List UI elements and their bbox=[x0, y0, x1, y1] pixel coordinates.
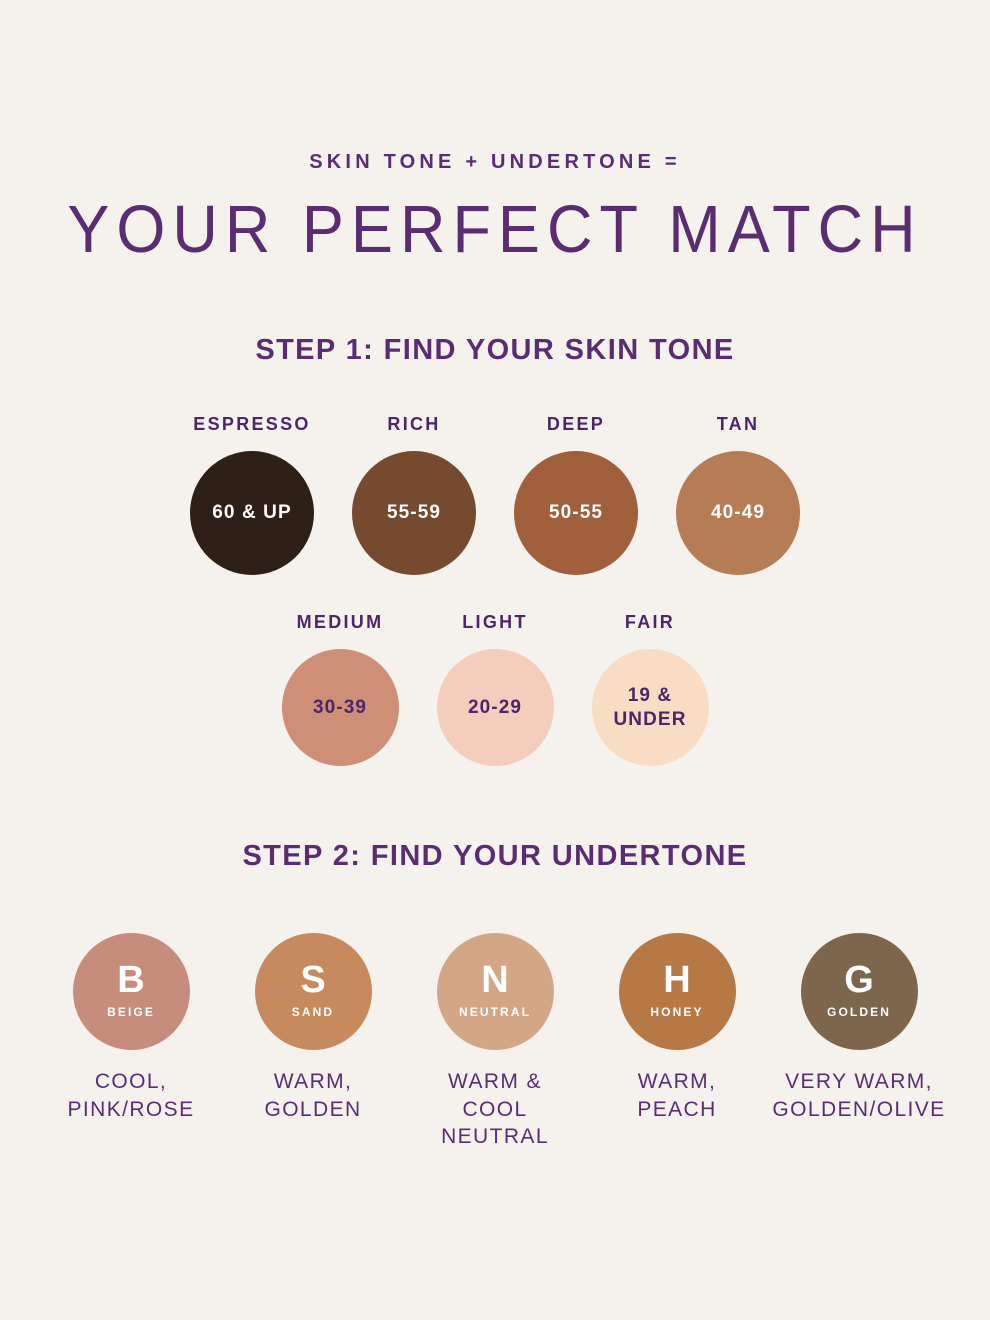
step-2-heading: STEP 2: FIND YOUR UNDERTONE bbox=[0, 842, 990, 871]
undertone-swatch[interactable]: SSAND bbox=[255, 933, 372, 1050]
skin-tone-medium[interactable]: MEDIUM30-39 bbox=[282, 613, 399, 766]
skin-tone-range: 60 & UP bbox=[212, 501, 292, 524]
skin-tone-label: DEEP bbox=[547, 415, 605, 433]
skin-tone-swatch[interactable]: 50-55 bbox=[514, 451, 638, 575]
undertone-golden[interactable]: GGOLDENVERY WARM, GOLDEN/OLIVE bbox=[798, 933, 920, 1123]
infographic-page: SKIN TONE + UNDERTONE = YOUR PERFECT MAT… bbox=[0, 0, 990, 1320]
undertone-letter: G bbox=[844, 961, 874, 999]
undertone-letter: N bbox=[481, 961, 508, 999]
skin-tone-label: TAN bbox=[717, 415, 760, 433]
skin-tone-swatch[interactable]: 20-29 bbox=[437, 649, 554, 766]
undertone-honey[interactable]: HHONEYWARM, PEACH bbox=[616, 933, 738, 1123]
undertone-letter: H bbox=[663, 961, 690, 999]
undertone-swatch[interactable]: HHONEY bbox=[619, 933, 736, 1050]
undertone-letter: B bbox=[117, 961, 144, 999]
undertone-description: VERY WARM, GOLDEN/OLIVE bbox=[772, 1068, 945, 1123]
undertone-row: BBEIGECOOL, PINK/ROSESSANDWARM, GOLDENNN… bbox=[0, 933, 990, 1151]
skin-tone-range: 40-49 bbox=[711, 501, 765, 524]
page-title: YOUR PERFECT MATCH bbox=[0, 197, 990, 264]
skin-tone-row-2: MEDIUM30-39LIGHT20-29FAIR19 & UNDER bbox=[0, 613, 990, 766]
skin-tone-tan[interactable]: TAN40-49 bbox=[676, 415, 800, 575]
undertone-letter: S bbox=[300, 961, 325, 999]
undertone-name: HONEY bbox=[650, 1006, 703, 1018]
skin-tone-label: ESPRESSO bbox=[193, 415, 310, 433]
skin-tone-swatch[interactable]: 40-49 bbox=[676, 451, 800, 575]
undertone-name: GOLDEN bbox=[827, 1006, 891, 1018]
skin-tone-range: 19 & UNDER bbox=[613, 684, 686, 730]
eyebrow-text: SKIN TONE + UNDERTONE = bbox=[0, 152, 990, 172]
undertone-swatch[interactable]: BBEIGE bbox=[73, 933, 190, 1050]
undertone-swatch[interactable]: GGOLDEN bbox=[801, 933, 918, 1050]
skin-tone-swatch[interactable]: 30-39 bbox=[282, 649, 399, 766]
undertone-description: WARM, PEACH bbox=[637, 1068, 716, 1123]
undertone-sand[interactable]: SSANDWARM, GOLDEN bbox=[252, 933, 374, 1123]
skin-tone-range: 20-29 bbox=[468, 696, 522, 719]
skin-tone-swatch[interactable]: 60 & UP bbox=[190, 451, 314, 575]
skin-tone-range: 30-39 bbox=[313, 696, 367, 719]
skin-tone-range: 55-59 bbox=[387, 501, 441, 524]
skin-tone-swatch[interactable]: 55-59 bbox=[352, 451, 476, 575]
skin-tone-light[interactable]: LIGHT20-29 bbox=[437, 613, 554, 766]
skin-tone-swatch[interactable]: 19 & UNDER bbox=[592, 649, 709, 766]
skin-tone-range: 50-55 bbox=[549, 501, 603, 524]
skin-tone-deep[interactable]: DEEP50-55 bbox=[514, 415, 638, 575]
skin-tone-espresso[interactable]: ESPRESSO60 & UP bbox=[190, 415, 314, 575]
undertone-name: BEIGE bbox=[107, 1006, 155, 1018]
undertone-swatch[interactable]: NNEUTRAL bbox=[437, 933, 554, 1050]
skin-tone-label: LIGHT bbox=[462, 613, 528, 631]
step-1-heading: STEP 1: FIND YOUR SKIN TONE bbox=[0, 336, 990, 365]
skin-tone-label: FAIR bbox=[625, 613, 675, 631]
skin-tone-fair[interactable]: FAIR19 & UNDER bbox=[592, 613, 709, 766]
page-header: SKIN TONE + UNDERTONE = YOUR PERFECT MAT… bbox=[0, 0, 990, 262]
skin-tone-label: MEDIUM bbox=[297, 613, 384, 631]
skin-tone-label: RICH bbox=[387, 415, 440, 433]
skin-tone-rich[interactable]: RICH55-59 bbox=[352, 415, 476, 575]
undertone-description: WARM & COOL NEUTRAL bbox=[434, 1068, 556, 1151]
undertone-description: COOL, PINK/ROSE bbox=[68, 1068, 195, 1123]
undertone-name: NEUTRAL bbox=[459, 1006, 531, 1018]
undertone-name: SAND bbox=[292, 1006, 334, 1018]
undertone-neutral[interactable]: NNEUTRALWARM & COOL NEUTRAL bbox=[434, 933, 556, 1151]
skin-tone-row-1: ESPRESSO60 & UPRICH55-59DEEP50-55TAN40-4… bbox=[0, 415, 990, 575]
undertone-beige[interactable]: BBEIGECOOL, PINK/ROSE bbox=[70, 933, 192, 1123]
undertone-description: WARM, GOLDEN bbox=[264, 1068, 361, 1123]
